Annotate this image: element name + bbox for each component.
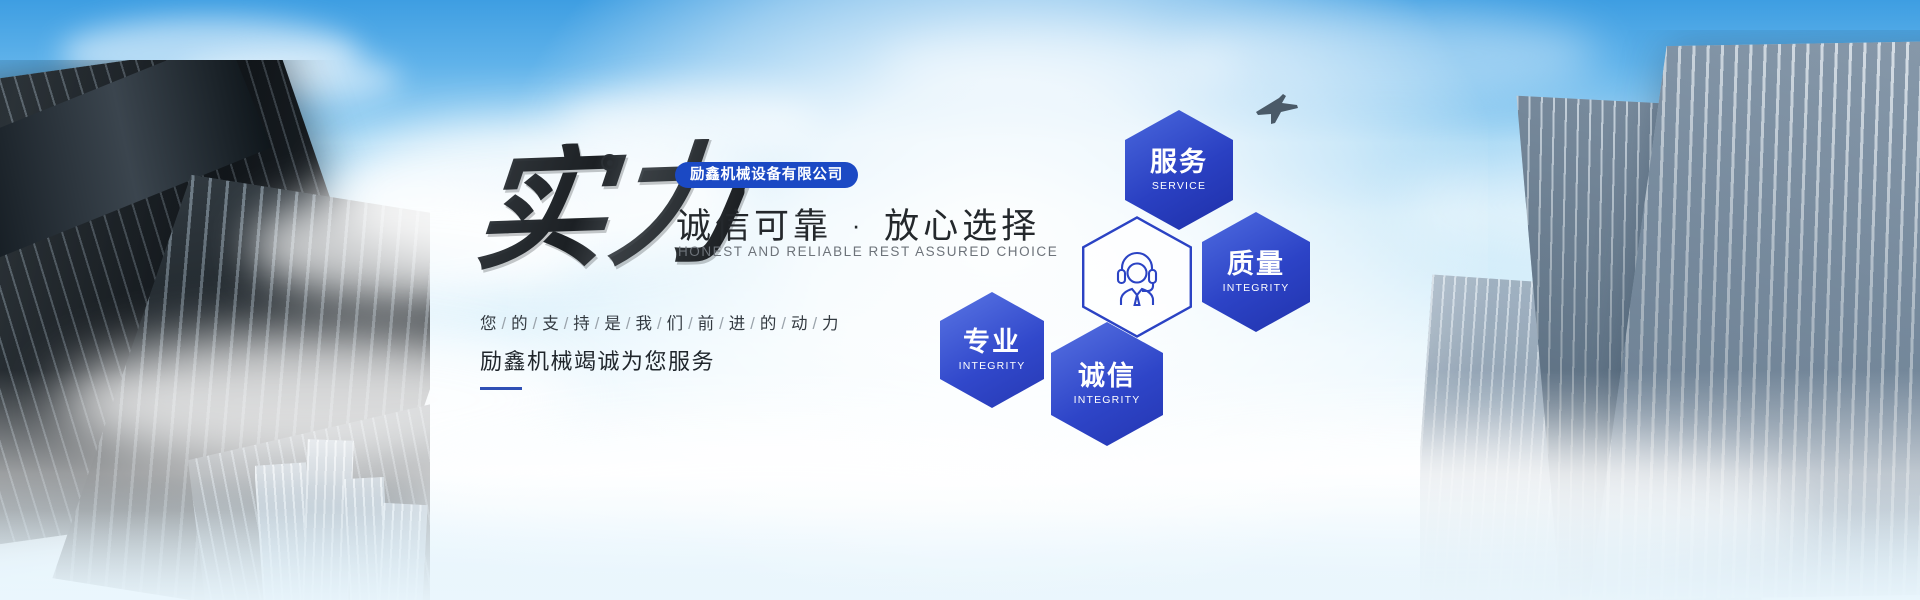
slogan-char: 您 <box>480 315 498 333</box>
hexagon-integrity-sublabel: INTEGRITY <box>1074 394 1141 406</box>
slogan-char: 支 <box>542 315 560 333</box>
slogan-separator: / <box>529 315 543 333</box>
hexagon-service-sublabel: SERVICE <box>1152 180 1206 192</box>
accent-rule <box>480 387 522 390</box>
slogan-char: 的 <box>760 315 778 333</box>
hexagon-professional-sublabel: INTEGRITY <box>959 360 1026 372</box>
tagline-part-1: 诚信可靠 <box>676 207 832 246</box>
hexagon-professional-label: 专业 <box>963 328 1021 356</box>
slogan-separator: / <box>777 315 791 333</box>
hexagon-integrity-label: 诚信 <box>1078 362 1136 390</box>
company-name-badge: 励鑫机械设备有限公司 <box>675 162 858 188</box>
slogan-char: 前 <box>698 315 716 333</box>
slogan-separator: / <box>498 315 512 333</box>
hexagon-service[interactable]: 服务 SERVICE <box>1125 110 1233 230</box>
hexagon-professional[interactable]: 专业 INTEGRITY <box>940 292 1044 408</box>
slogan-separator: / <box>560 315 574 333</box>
slogan-separator: / <box>746 315 760 333</box>
registered-mark-icon <box>601 154 618 171</box>
support-agent-icon <box>1109 248 1165 306</box>
slogan-char: 的 <box>511 315 529 333</box>
slogan-separator: / <box>684 315 698 333</box>
service-subline: 励鑫机械竭诚为您服务 <box>480 344 715 376</box>
hexagon-quality-label: 质量 <box>1227 250 1285 278</box>
slogan-char: 动 <box>791 315 809 333</box>
slogan-separator: / <box>808 315 822 333</box>
hexagon-feature-cluster: 服务 SERVICE 质量 INTEGRITY 专业 INTEGRITY 诚信 <box>920 110 1320 420</box>
slogan-char: 是 <box>604 315 622 333</box>
slogan-line: 您/的/支/持/是/我/们/前/进/的/动/力 <box>480 310 840 334</box>
slogan-char: 持 <box>573 315 591 333</box>
tagline-separator: · <box>846 210 871 240</box>
slogan-char: 进 <box>729 315 747 333</box>
slogan-char: 我 <box>635 315 653 333</box>
slogan-separator: / <box>622 315 636 333</box>
slogan-separator: / <box>591 315 605 333</box>
hero-banner: 实力 励鑫机械设备有限公司 诚信可靠 · 放心选择 HONEST AND REL… <box>0 0 1920 600</box>
slogan-char: 们 <box>667 315 685 333</box>
slogan-separator: / <box>715 315 729 333</box>
hexagon-service-label: 服务 <box>1150 148 1208 176</box>
hexagon-quality[interactable]: 质量 INTEGRITY <box>1202 212 1310 332</box>
hexagon-quality-sublabel: INTEGRITY <box>1223 282 1290 294</box>
slogan-char: 力 <box>822 315 840 333</box>
hexagon-support-agent[interactable] <box>1082 216 1192 338</box>
slogan-separator: / <box>653 315 667 333</box>
